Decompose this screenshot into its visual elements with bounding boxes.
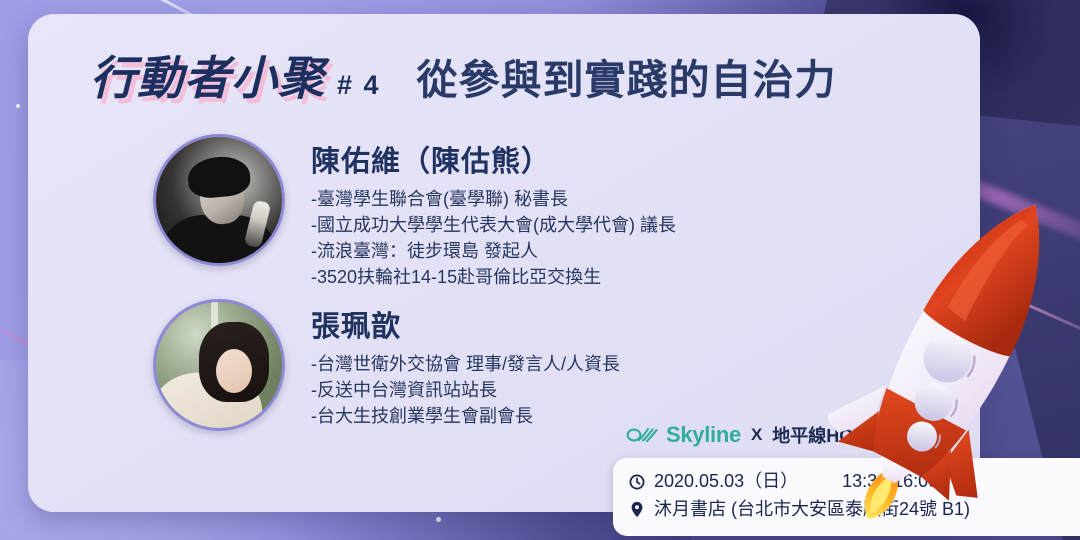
poster-card: 行動者小聚 # 4 從參與到實踐的自治力 陳佑維（陳估熊） -臺灣學生聯合會(臺… [28,14,980,512]
list-item: -台灣世衛外交協會 理事/發言人/人資長 [311,351,620,377]
sparkle-dot [16,104,20,108]
title-main-text: 行動者小聚 [90,42,325,108]
event-date: 2020.05.03（日） [654,468,798,496]
speaker-details: 陳佑維（陳估熊） -臺灣學生聯合會(臺學聯) 秘書長 -國立成功大學學生代表大會… [311,134,676,290]
list-item: -流浪臺灣：徒步環島 發起人 [311,238,676,264]
speaker-bullet-list: -臺灣學生聯合會(臺學聯) 秘書長 -國立成功大學學生代表大會(成大學代會) 議… [311,186,676,290]
list-item: -3520扶輪社14-15赴哥倫比亞交換生 [311,264,676,290]
avatar [153,299,285,431]
list-item: -國立成功大學學生代表大會(成大學代會) 議長 [311,212,676,238]
event-info-box: 2020.05.03（日） 13:30-16:00 沐月書店 (台北市大安區泰順… [613,458,1080,536]
avatar [153,134,285,266]
speaker-entry: 陳佑維（陳估熊） -臺灣學生聯合會(臺學聯) 秘書長 -國立成功大學學生代表大會… [153,134,676,290]
location-pin-icon [629,501,645,518]
list-item: -反送中台灣資訊站站長 [311,377,620,403]
list-item: -臺灣學生聯合會(臺學聯) 秘書長 [311,186,676,212]
event-venue: 沐月書店 (台北市大安區泰順街24號 B1) [654,496,970,524]
speaker-bullet-list: -台灣世衛外交協會 理事/發言人/人資長 -反送中台灣資訊站站長 -台大生技創業… [311,351,620,429]
title-subtitle-text: 從參與到實踐的自治力 [417,46,837,106]
list-item: -台大生技創業學生會副會長 [311,403,620,429]
event-poster: 行動者小聚 # 4 從參與到實踐的自治力 陳佑維（陳估熊） -臺灣學生聯合會(臺… [0,0,1080,540]
speaker-details: 張珮歆 -台灣世衛外交協會 理事/發言人/人資長 -反送中台灣資訊站站長 -台大… [311,299,620,429]
sparkle-dot [436,517,441,522]
partner-name: 地平線HORIZEN [772,422,907,448]
avatar-hair-shape [199,322,269,402]
clock-icon [629,474,645,490]
title-episode-number: # 4 [337,70,381,101]
skyline-wordmark: Skyline [666,422,741,448]
event-venue-line: 沐月書店 (台北市大安區泰順街24號 B1) [629,496,1080,524]
poster-title: 行動者小聚 # 4 從參與到實踐的自治力 [90,42,837,108]
speaker-name: 張珮歆 [311,303,620,345]
partner-separator: X [751,425,762,445]
skyline-logo-icon [626,425,658,445]
partner-row: Skyline X 地平線HORIZEN [626,422,907,448]
event-time: 13:30-16:00 [842,468,938,496]
speaker-name: 陳佑維（陳估熊） [311,138,676,180]
event-datetime-line: 2020.05.03（日） 13:30-16:00 [629,468,1080,496]
speaker-entry: 張珮歆 -台灣世衛外交協會 理事/發言人/人資長 -反送中台灣資訊站站長 -台大… [153,299,620,431]
